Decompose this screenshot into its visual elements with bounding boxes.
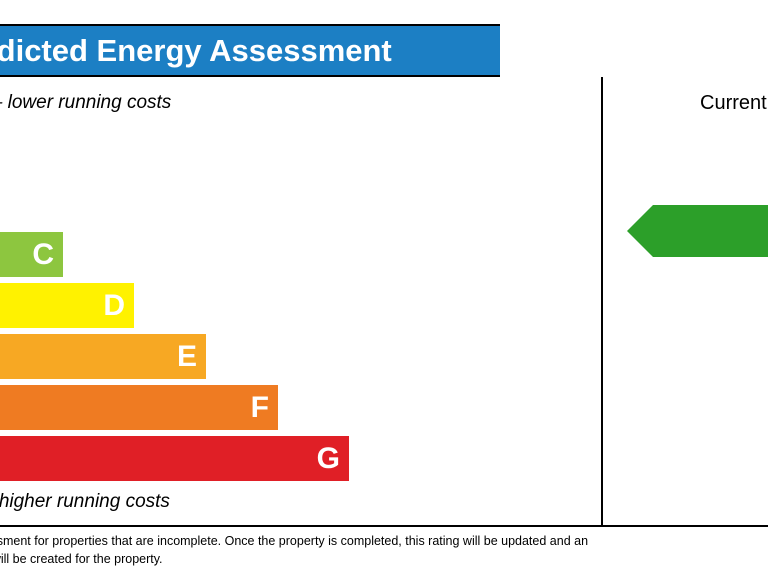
band-letter-c: C [32, 240, 54, 270]
band-letter-g: G [317, 444, 340, 474]
band-letter-d: D [103, 291, 125, 321]
header-band: This is a Predicted Energy Assessment [0, 24, 500, 77]
current-rating-panel: Current 81 [603, 77, 768, 525]
energy-band-bars: A B C D E [0, 128, 601, 485]
band-letter-f: F [251, 393, 269, 423]
band-bar-e: E [0, 334, 206, 379]
band-row-f: F [0, 383, 601, 434]
band-letter-e: E [177, 342, 197, 372]
band-bar-d: D [0, 283, 134, 328]
band-bar-c: C [0, 232, 63, 277]
band-bar-f: F [0, 385, 278, 430]
footer-note: This is a Predicted Energy Assessment fo… [0, 525, 768, 568]
band-bar-g: G [0, 436, 349, 481]
scale-caption-top: Very energy efficient – lower running co… [0, 92, 171, 114]
footer-line-2: Energy Performance Certificate will be c… [0, 550, 768, 568]
band-row-d: D [0, 281, 601, 332]
current-rating-arrow: 81 [627, 205, 768, 257]
column-header-current: Current [700, 92, 767, 115]
footer-line-1: This is a Predicted Energy Assessment fo… [0, 532, 768, 550]
page-title: This is a Predicted Energy Assessment [0, 33, 392, 69]
band-row-a: A [0, 128, 601, 179]
epc-predicted-energy-assessment: This is a Predicted Energy Assessment Ve… [0, 0, 768, 576]
scale-caption-bottom: Not energy efficient – higher running co… [0, 491, 170, 513]
band-row-c: C [0, 230, 601, 281]
band-row-g: G [0, 434, 601, 485]
band-row-e: E [0, 332, 601, 383]
band-row-b: B [0, 179, 601, 230]
energy-rating-chart-panel: Very energy efficient – lower running co… [0, 77, 603, 525]
